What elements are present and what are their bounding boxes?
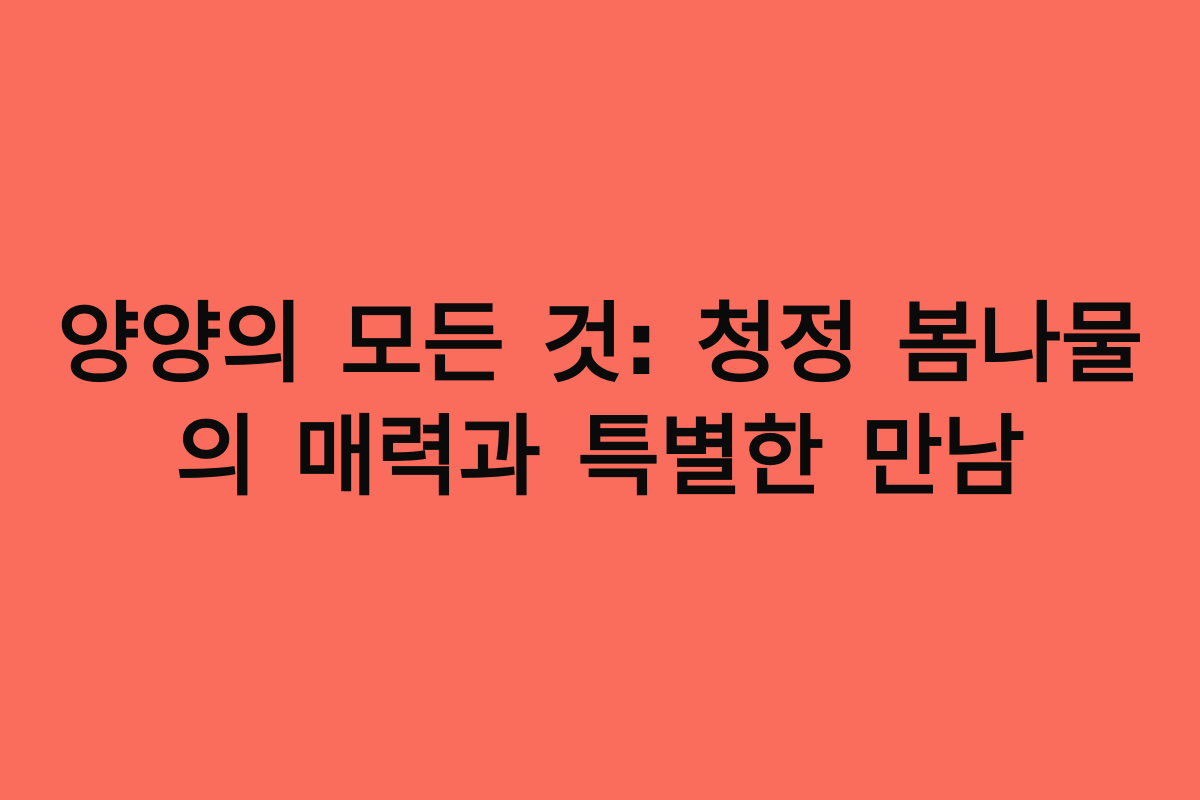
headline-container: 양양의 모든 것: 청정 봄나물의 매력과 특별한 만남 bbox=[30, 287, 1170, 513]
headline-text: 양양의 모든 것: 청정 봄나물의 매력과 특별한 만남 bbox=[19, 287, 1182, 513]
text-card: 양양의 모든 것: 청정 봄나물의 매력과 특별한 만남 bbox=[0, 0, 1200, 800]
